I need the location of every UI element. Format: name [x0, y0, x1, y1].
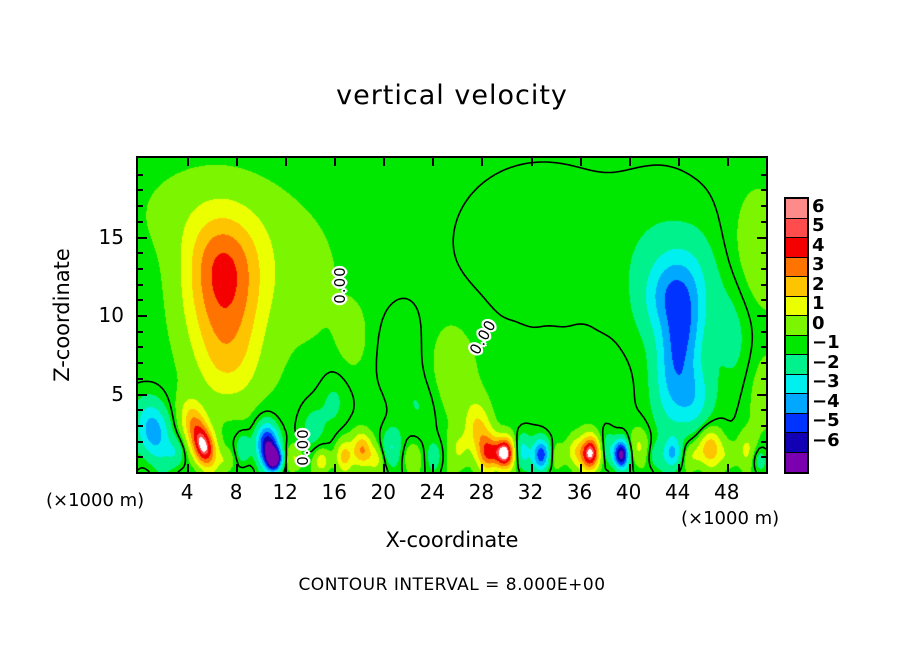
x-axis-tick	[531, 158, 533, 166]
x-axis-tick	[580, 464, 582, 472]
colorbar-segment	[786, 238, 807, 258]
x-axis-tick-label: 12	[272, 480, 297, 504]
contour-plot-panel	[136, 156, 768, 474]
x-axis-tick-label: 28	[469, 480, 494, 504]
y-axis-tick	[138, 299, 143, 301]
y-axis-tick	[761, 284, 766, 286]
colorbar-segment	[786, 453, 807, 473]
colorbar-segment	[786, 199, 807, 219]
x-axis-tick	[531, 464, 533, 472]
contour-line-label: 0.00	[294, 428, 312, 465]
x-axis-tick	[187, 464, 189, 472]
x-axis-tick-label: 20	[371, 480, 396, 504]
colorbar-tick-label: 1	[812, 295, 825, 313]
y-axis-tick	[761, 174, 766, 176]
colorbar-segment	[786, 336, 807, 356]
x-axis-tick-label: 16	[322, 480, 347, 504]
colorbar	[784, 197, 809, 474]
y-axis-tick	[138, 362, 143, 364]
y-axis-tick	[761, 456, 766, 458]
colorbar-segment	[786, 316, 807, 336]
colorbar-tick-label: −2	[812, 354, 840, 372]
y-axis-tick	[138, 268, 143, 270]
colorbar-tick-label: 6	[812, 198, 825, 216]
y-axis-tick	[757, 237, 766, 239]
x-axis-tick-label: 40	[616, 480, 641, 504]
y-axis-tick	[757, 315, 766, 317]
colorbar-segment	[786, 277, 807, 297]
x-axis-tick	[383, 464, 385, 472]
x-axis-tick	[334, 158, 336, 166]
y-axis-tick	[138, 221, 143, 223]
x-axis-tick	[629, 158, 631, 166]
x-axis-tick-label: 8	[230, 480, 243, 504]
x-axis-tick	[727, 464, 729, 472]
x-axis-tick-label: 44	[665, 480, 690, 504]
x-axis-tick	[236, 464, 238, 472]
colorbar-segment	[786, 258, 807, 278]
colorbar-tick-label: −6	[812, 432, 840, 450]
colorbar-segment	[786, 433, 807, 453]
x-axis-tick	[629, 464, 631, 472]
y-axis-tick	[138, 441, 143, 443]
x-axis-tick	[432, 158, 434, 166]
colorbar-segment	[786, 297, 807, 317]
x-axis-tick	[187, 158, 189, 166]
x-axis-tick	[481, 158, 483, 166]
colorbar-tick-label: 5	[812, 217, 825, 235]
y-axis-tick	[138, 425, 143, 427]
y-axis-tick	[138, 252, 143, 254]
x-axis-tick	[678, 158, 680, 166]
y-axis-tick	[138, 331, 143, 333]
zero-contour-lines	[138, 158, 766, 472]
y-axis-tick	[138, 284, 143, 286]
contour-interval-caption: CONTOUR INTERVAL = 8.000E+00	[0, 575, 904, 595]
colorbar-tick-label: 3	[812, 256, 825, 274]
x-axis-tick	[383, 158, 385, 166]
y-axis-tick	[761, 441, 766, 443]
y-axis-tick	[138, 409, 143, 411]
x-axis-tick-label: 48	[714, 480, 739, 504]
y-axis-tick	[761, 252, 766, 254]
x-axis-tick-label: 36	[567, 480, 592, 504]
colorbar-segment	[786, 219, 807, 239]
x-axis-title: X-coordinate	[0, 528, 904, 552]
colorbar-tick-label: −5	[812, 412, 840, 430]
y-axis-tick	[138, 456, 143, 458]
y-axis-tick	[761, 189, 766, 191]
colorbar-tick-label: −4	[812, 393, 840, 411]
y-axis-tick	[138, 394, 147, 396]
x-axis-units: (×1000 m)	[681, 508, 779, 529]
y-axis-tick	[138, 189, 143, 191]
y-axis-tick	[138, 346, 143, 348]
colorbar-tick-label: 0	[812, 315, 825, 333]
y-axis-tick	[761, 362, 766, 364]
colorbar-segment	[786, 355, 807, 375]
x-axis-tick	[432, 464, 434, 472]
x-axis-tick	[285, 158, 287, 166]
y-axis-tick	[761, 378, 766, 380]
x-axis-tick-label: 32	[518, 480, 543, 504]
y-axis-tick	[761, 205, 766, 207]
y-axis-tick	[761, 331, 766, 333]
x-axis-tick	[481, 464, 483, 472]
x-axis-tick	[334, 464, 336, 472]
y-axis-tick	[761, 346, 766, 348]
y-axis-units: (×1000 m)	[46, 490, 144, 511]
page-title: vertical velocity	[0, 80, 904, 111]
y-axis-tick	[138, 237, 147, 239]
y-axis-tick	[761, 268, 766, 270]
x-axis-tick-label: 24	[420, 480, 445, 504]
y-axis-tick-label: 5	[111, 382, 124, 406]
y-axis-tick	[138, 174, 143, 176]
y-axis-tick	[138, 378, 143, 380]
y-axis-tick	[761, 221, 766, 223]
colorbar-segment	[786, 394, 807, 414]
y-axis-tick	[761, 425, 766, 427]
y-axis-tick-label: 15	[99, 225, 124, 249]
x-axis-tick-label: 4	[181, 480, 194, 504]
colorbar-tick-label: −1	[812, 334, 840, 352]
y-axis-tick	[138, 315, 147, 317]
x-axis-tick	[727, 158, 729, 166]
y-axis-tick	[757, 394, 766, 396]
y-axis-tick	[761, 409, 766, 411]
x-axis-tick	[285, 464, 287, 472]
contour-line-label: 0.00	[331, 266, 349, 303]
x-axis-tick	[678, 464, 680, 472]
colorbar-tick-label: −3	[812, 373, 840, 391]
colorbar-segment	[786, 414, 807, 434]
x-axis-tick	[236, 158, 238, 166]
colorbar-tick-label: 2	[812, 276, 825, 294]
x-axis-tick	[580, 158, 582, 166]
zero-contour-path	[138, 162, 766, 472]
y-axis-title: Z-coordinate	[50, 248, 74, 382]
y-axis-tick-label: 10	[99, 303, 124, 327]
y-axis-tick	[761, 299, 766, 301]
y-axis-tick	[138, 205, 143, 207]
colorbar-segment	[786, 375, 807, 395]
colorbar-tick-label: 4	[812, 237, 825, 255]
